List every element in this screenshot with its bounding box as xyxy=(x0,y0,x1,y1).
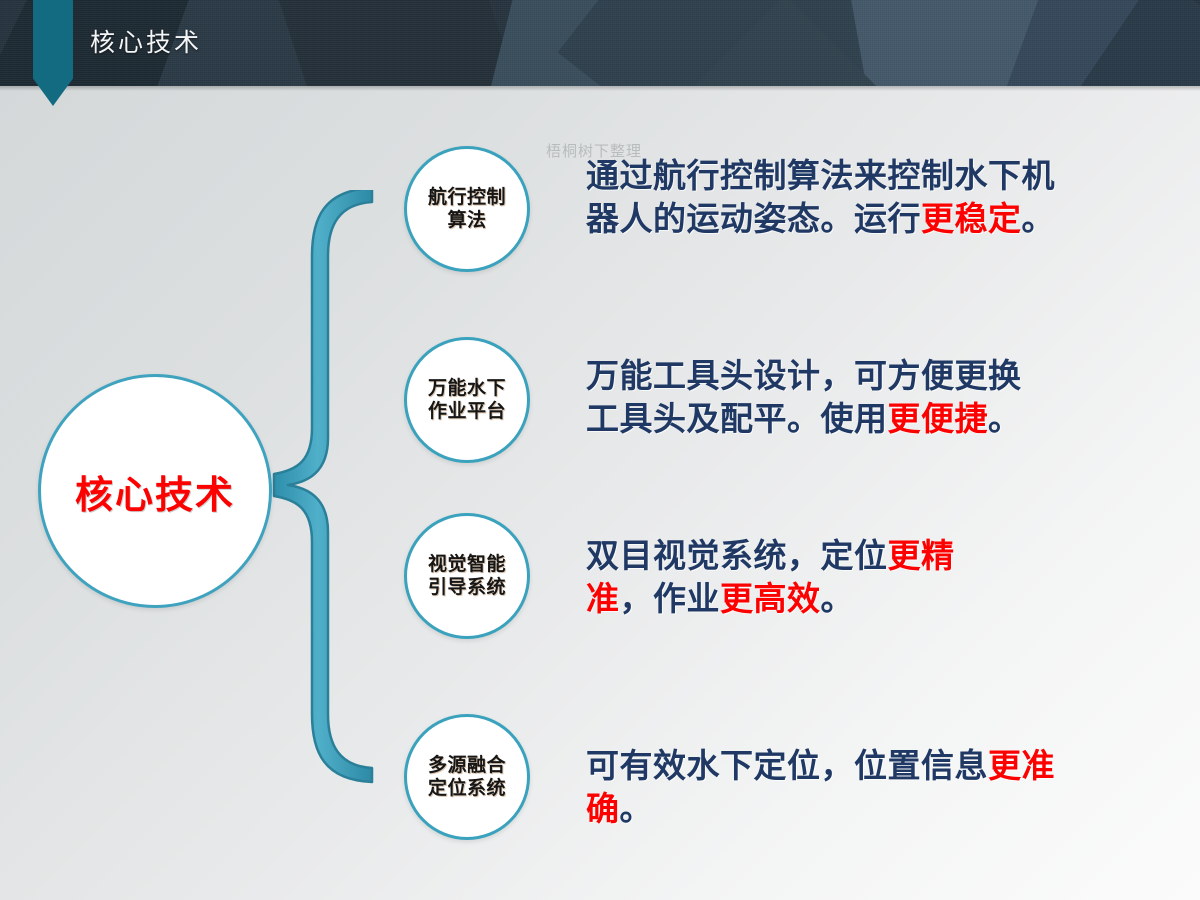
watermark-text: 梧桐树下整理 xyxy=(546,140,642,161)
description-phrase: 可有效水下定位，位置信息 xyxy=(586,747,988,784)
branch-description-0: 通过航行控制算法来控制水下机器人的运动姿态。运行更稳定。 xyxy=(586,155,1086,241)
branch-node-label: 多源融合定位系统 xyxy=(428,754,506,800)
slide-canvas: 核心技术 核心技术 航行控制算法 万能水下作业平台 视觉智能引导系统 多源融合定… xyxy=(0,0,1200,900)
highlight-phrase: 更便捷 xyxy=(888,400,989,437)
branch-node-1[interactable]: 万能水下作业平台 xyxy=(404,337,530,463)
branch-node-label: 航行控制算法 xyxy=(428,186,506,232)
description-phrase: 。 xyxy=(821,580,855,617)
highlight-phrase: 更高效 xyxy=(720,580,821,617)
description-phrase: 双目视觉系统，定位 xyxy=(586,537,888,574)
branch-node-3[interactable]: 多源融合定位系统 xyxy=(404,714,530,840)
center-node[interactable]: 核心技术 xyxy=(38,374,272,608)
description-phrase: 。 xyxy=(988,400,1022,437)
brace-connector xyxy=(268,190,388,815)
branch-description-2: 双目视觉系统，定位更精准，作业更高效。 xyxy=(586,535,1016,621)
branch-node-2[interactable]: 视觉智能引导系统 xyxy=(404,513,530,639)
branch-node-label: 万能水下作业平台 xyxy=(428,377,506,423)
description-phrase: 。 xyxy=(1022,200,1056,237)
branch-description-1: 万能工具头设计，可方便更换工具头及配平。使用更便捷。 xyxy=(586,355,1036,441)
slide-title: 核心技术 xyxy=(90,23,202,59)
description-phrase: 。 xyxy=(620,790,654,827)
highlight-phrase: 更稳定 xyxy=(921,200,1022,237)
header-drop-shadow xyxy=(0,86,1200,91)
center-node-label: 核心技术 xyxy=(75,464,235,519)
description-phrase: ，作业 xyxy=(620,580,721,617)
branch-node-label: 视觉智能引导系统 xyxy=(428,553,506,599)
branch-description-3: 可有效水下定位，位置信息更准确。 xyxy=(586,745,1106,831)
branch-node-0[interactable]: 航行控制算法 xyxy=(404,146,530,272)
